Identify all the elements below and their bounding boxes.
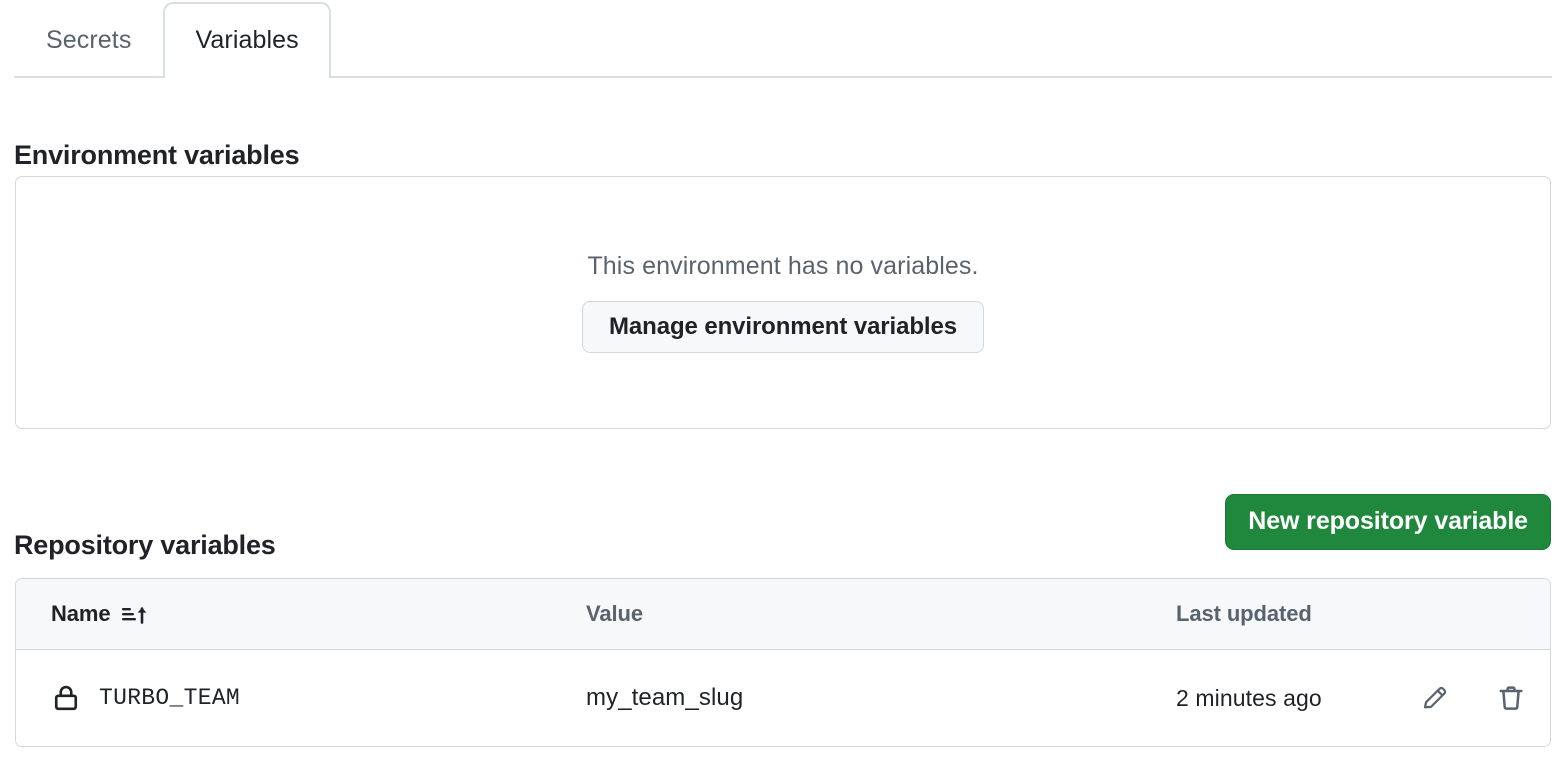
tab-variables-label: Variables <box>195 28 298 53</box>
lock-icon <box>51 683 81 713</box>
table-header-name: Name <box>16 601 586 627</box>
variable-actions-cell <box>1401 680 1550 716</box>
pencil-icon <box>1420 683 1450 713</box>
manage-environment-variables-button[interactable]: Manage environment variables <box>582 301 984 353</box>
repository-variables-table: Name Value Last updated <box>15 578 1551 747</box>
new-repository-variable-button[interactable]: New repository variable <box>1225 494 1551 550</box>
table-header-last-updated: Last updated <box>1176 601 1401 627</box>
variable-value: my_team_slug <box>586 684 743 712</box>
edit-variable-button[interactable] <box>1417 680 1453 716</box>
repository-variables-heading: Repository variables <box>14 530 276 561</box>
environment-variables-blankslate: This environment has no variables. Manag… <box>15 176 1551 429</box>
environment-empty-message: This environment has no variables. <box>587 252 978 281</box>
environment-variables-heading: Environment variables <box>14 140 299 171</box>
trash-icon <box>1496 683 1526 713</box>
table-row: TURBO_TEAM my_team_slug 2 minutes ago <box>16 650 1550 746</box>
tab-variables[interactable]: Variables <box>163 2 330 76</box>
variable-last-updated-cell: 2 minutes ago <box>1176 685 1401 712</box>
table-header-value-label: Value <box>586 601 643 627</box>
table-header-last-updated-label: Last updated <box>1176 601 1312 627</box>
variable-name: TURBO_TEAM <box>99 685 240 711</box>
sort-asc-icon[interactable] <box>121 602 149 626</box>
delete-variable-button[interactable] <box>1493 680 1529 716</box>
variable-value-cell: my_team_slug <box>586 684 1176 712</box>
table-header-row: Name Value Last updated <box>16 579 1550 650</box>
tab-secrets-label: Secrets <box>46 28 131 53</box>
tab-secrets[interactable]: Secrets <box>14 2 163 76</box>
tab-navigation: Secrets Variables <box>14 2 1552 78</box>
variable-last-updated: 2 minutes ago <box>1176 685 1322 712</box>
variable-name-cell: TURBO_TEAM <box>16 683 586 713</box>
table-header-name-label: Name <box>51 601 111 627</box>
table-header-value: Value <box>586 601 1176 627</box>
variables-settings-page: Secrets Variables Environment variables … <box>0 0 1566 764</box>
